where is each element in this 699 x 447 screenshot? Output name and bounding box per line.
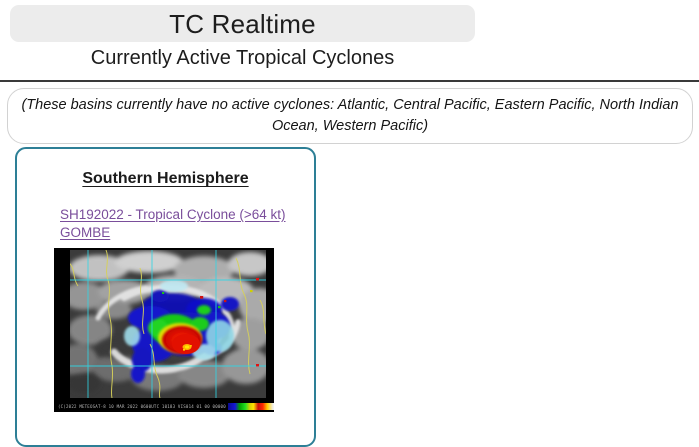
satellite-timestamp-stamp: (C)2022 METEOSAT-8 10 MAR 2022 0600UTC 1… <box>54 404 226 409</box>
inactive-basins-notice: (These basins currently have no active c… <box>7 88 693 144</box>
page-title: TC Realtime <box>169 11 316 37</box>
page-title-banner: TC Realtime <box>10 5 475 42</box>
storm-satellite-image[interactable]: (C)2022 METEOSAT-8 10 MAR 2022 0600UTC 1… <box>54 248 274 412</box>
basin-card-southern-hemisphere: Southern Hemisphere SH192022 - Tropical … <box>15 147 316 447</box>
inactive-basins-notice-text: (These basins currently have no active c… <box>21 97 678 134</box>
basin-heading: Southern Hemisphere <box>17 170 314 188</box>
satellite-infrared-image-canvas <box>54 248 274 412</box>
enhancement-colorbar <box>228 403 274 410</box>
satellite-image-footer: (C)2022 METEOSAT-8 10 MAR 2022 0600UTC 1… <box>54 401 274 412</box>
page-subtitle: Currently Active Tropical Cyclones <box>10 46 475 71</box>
storm-link-sh192022-gombe[interactable]: SH192022 - Tropical Cyclone (>64 kt) GOM… <box>60 206 305 242</box>
header-divider <box>0 80 699 82</box>
